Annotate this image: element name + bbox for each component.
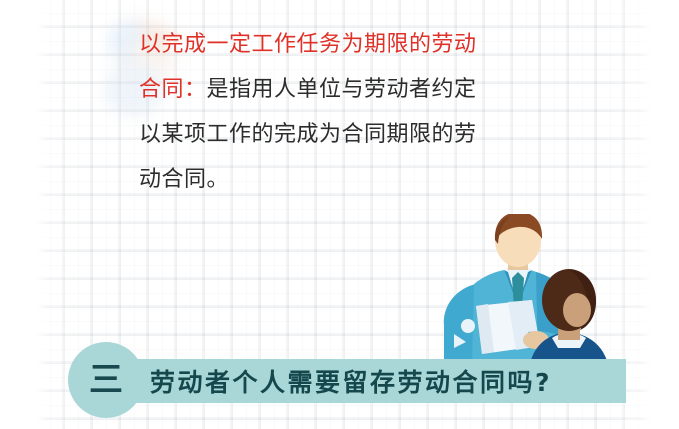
section-number-badge: 三 [68, 342, 144, 418]
paragraph-line-2: 合同：是指用人单位与劳动者约定 [139, 67, 559, 112]
paragraph-line-3: 以某项工作的完成为合同期限的劳 [139, 112, 559, 157]
infographic-page: 以完成一定工作任务为期限的劳动 合同：是指用人单位与劳动者约定 以某项工作的完成… [0, 0, 679, 429]
definition-paragraph: 以完成一定工作任务为期限的劳动 合同：是指用人单位与劳动者约定 以某项工作的完成… [139, 22, 559, 202]
paragraph-line-1-emphasis: 以完成一定工作任务为期限的劳动 [139, 32, 477, 57]
paragraph-line-4-body: 动合同。 [139, 167, 229, 192]
paragraph-line-4: 动合同。 [139, 157, 559, 202]
paragraph-line-2-emphasis: 合同： [139, 77, 207, 102]
paragraph-line-2-body: 是指用人单位与劳动者约定 [207, 77, 477, 102]
section-heading: 劳动者个人需要留存劳动合同吗? [150, 359, 552, 403]
section-number-label: 三 [89, 363, 123, 397]
section-banner: 三 劳动者个人需要留存劳动合同吗? [68, 342, 626, 418]
paragraph-line-1: 以完成一定工作任务为期限的劳动 [139, 22, 559, 67]
paragraph-line-3-body: 以某项工作的完成为合同期限的劳 [139, 122, 477, 147]
